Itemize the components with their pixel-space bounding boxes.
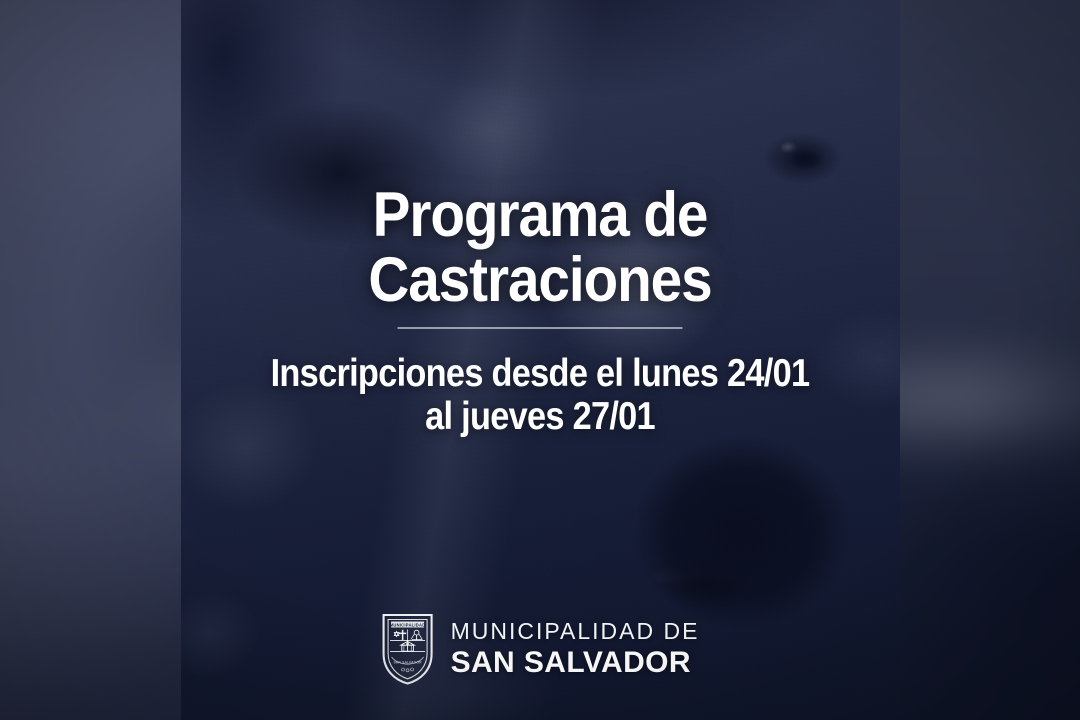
- san-salvador-coat-of-arms-icon: MUNICIPALIDAD: [381, 612, 435, 686]
- title-divider-rule: [398, 327, 683, 329]
- footer-logo-lockup: MUNICIPALIDAD: [381, 612, 700, 686]
- poster-title: Programa de Castraciones: [0, 183, 1080, 313]
- svg-text:MUNICIPALIDAD: MUNICIPALIDAD: [390, 622, 426, 627]
- municipality-wordmark: MUNICIPALIDAD DE SAN SALVADOR: [451, 620, 700, 678]
- wordmark-line-municipalidad-de: MUNICIPALIDAD DE: [451, 620, 700, 643]
- svg-text:SAN SALVADOR: SAN SALVADOR: [393, 661, 422, 665]
- poster-canvas: Programa de Castraciones Inscripciones d…: [0, 0, 1080, 720]
- subtitle-line-2: al jueves 27/01: [65, 395, 1015, 438]
- subtitle-line-1: Inscripciones desde el lunes 24/01: [65, 352, 1015, 395]
- poster-content: Programa de Castraciones Inscripciones d…: [0, 0, 1080, 720]
- wordmark-line-san-salvador: SAN SALVADOR: [451, 648, 700, 678]
- poster-subtitle: Inscripciones desde el lunes 24/01 al ju…: [0, 352, 1080, 438]
- title-line-2: Castraciones: [54, 248, 1026, 313]
- title-line-1: Programa de: [54, 183, 1026, 248]
